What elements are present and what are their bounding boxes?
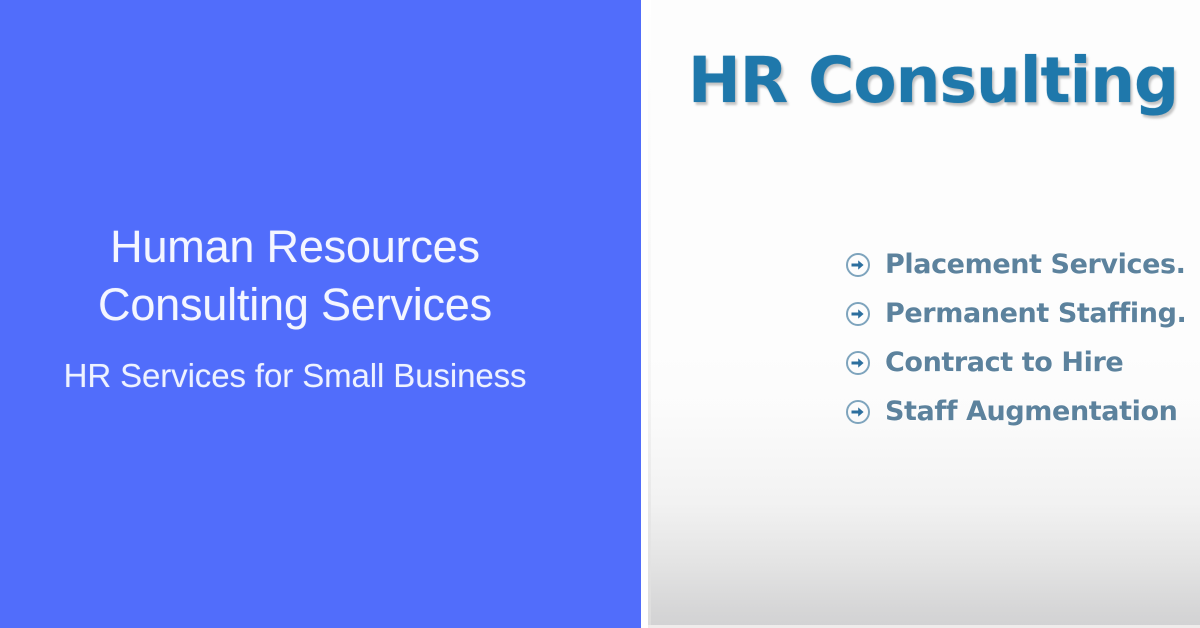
service-label: Staff Augmentation [885,397,1177,427]
list-item: Staff Augmentation [845,387,1186,436]
arrow-circle-icon [845,350,871,376]
arrow-circle-icon [845,399,871,425]
hr-consulting-wordmark: HR Consulting [688,46,1200,116]
service-label: Contract to Hire [885,348,1123,378]
list-item: Contract to Hire [845,338,1186,387]
list-item: Permanent Staffing. [845,289,1186,338]
left-blue-panel: Human Resources Consulting Services HR S… [0,0,641,628]
arrow-circle-icon [845,301,871,327]
services-list: Placement Services. Permanent Staffing. … [845,240,1186,436]
right-image-panel: HR Consulting Placement Services. Perman… [648,0,1200,628]
promo-banner: Human Resources Consulting Services HR S… [0,0,1200,628]
left-text-block: Human Resources Consulting Services HR S… [0,218,590,396]
list-item: Placement Services. [845,240,1186,289]
page-subtitle: HR Services for Small Business [0,356,590,396]
arrow-circle-icon [845,252,871,278]
service-label: Permanent Staffing. [885,299,1186,329]
service-label: Placement Services. [885,250,1186,280]
page-title: Human Resources Consulting Services [0,218,590,334]
